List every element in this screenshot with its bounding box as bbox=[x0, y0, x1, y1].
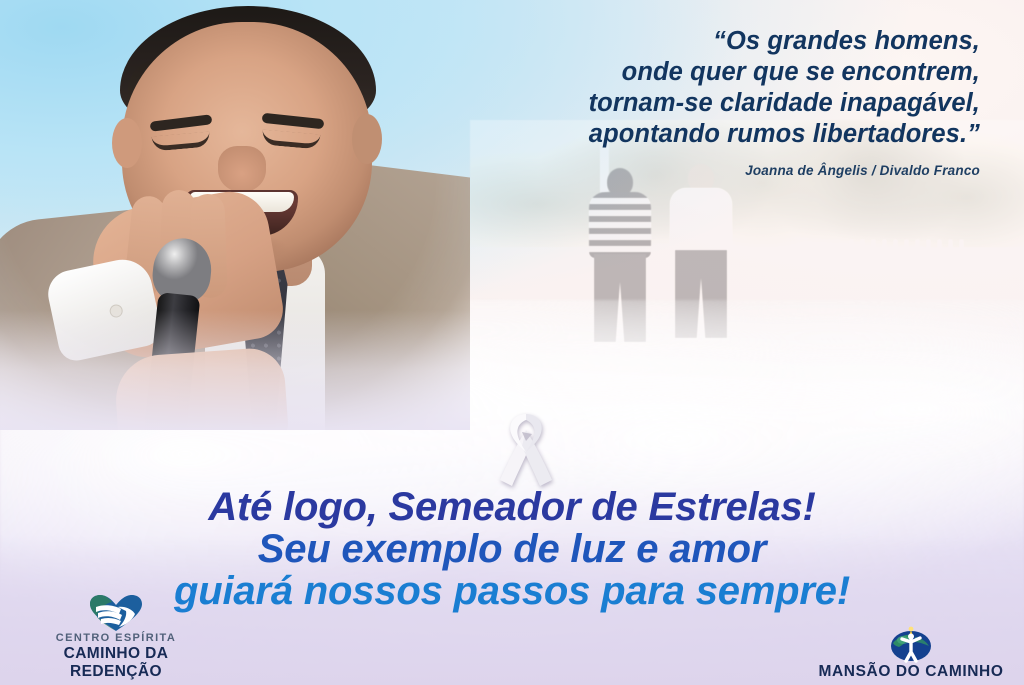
logo-left-line-2: CAMINHO DA REDENÇÃO bbox=[16, 645, 216, 681]
portrait-bottom-fade bbox=[0, 310, 470, 430]
logo-mansao-do-caminho: MANSÃO DO CAMINHO bbox=[806, 623, 1016, 681]
ear-left bbox=[112, 118, 142, 168]
quote-line-4: apontando rumos libertadores.” bbox=[420, 119, 980, 150]
figure-torso bbox=[670, 188, 732, 254]
nose bbox=[218, 146, 266, 192]
mourning-ribbon-icon bbox=[486, 410, 566, 488]
globe-figure-torch-icon bbox=[806, 623, 1016, 663]
headline-line-2: Seu exemplo de luz e amor bbox=[0, 528, 1024, 570]
quote-line-1: “Os grandes homens, bbox=[420, 26, 980, 57]
logo-left-line-1: CENTRO ESPÍRITA bbox=[16, 632, 216, 645]
quote-attribution: Joanna de Ângelis / Divaldo Franco bbox=[420, 163, 980, 178]
photo-fence bbox=[850, 240, 970, 288]
logo-centro-espirita: CENTRO ESPÍRITA CAMINHO DA REDENÇÃO bbox=[16, 592, 216, 681]
quote-line-3: tornam-se claridade inapagável, bbox=[420, 88, 980, 119]
ear-right bbox=[352, 114, 382, 164]
headline-line-1: Até logo, Semeador de Estrelas! bbox=[0, 486, 1024, 528]
figure-torso bbox=[589, 192, 651, 258]
quote-line-2: onde quer que se encontrem, bbox=[420, 57, 980, 88]
heart-hands-icon bbox=[16, 592, 216, 632]
portrait-photo bbox=[0, 0, 470, 430]
memorial-poster: “Os grandes homens, onde quer que se enc… bbox=[0, 0, 1024, 685]
logo-right-line-1: MANSÃO DO CAMINHO bbox=[806, 663, 1016, 681]
quote-block: “Os grandes homens, onde quer que se enc… bbox=[420, 26, 980, 178]
